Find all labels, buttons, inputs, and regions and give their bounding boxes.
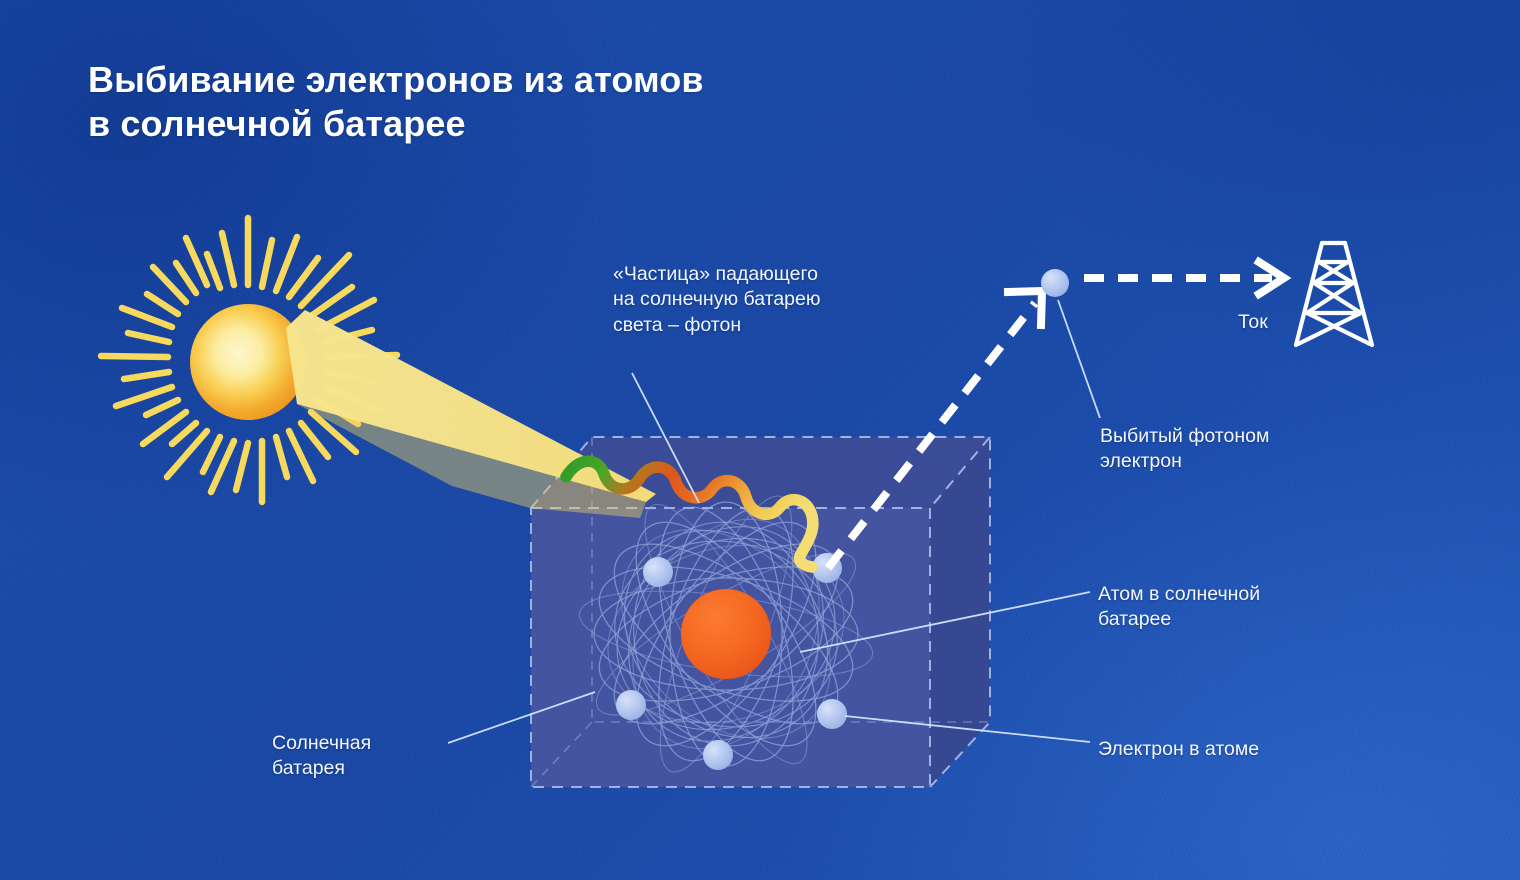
label-photon: «Частица» падающего на солнечную батарею…	[613, 262, 953, 338]
label-ejected-electron: Выбитый фотоном электрон	[1100, 424, 1390, 475]
electron-icon	[643, 557, 673, 587]
leader-line-ejected-electron	[1058, 300, 1100, 418]
nucleus-icon	[681, 589, 771, 679]
infographic-canvas: Выбивание электронов из атомов в солнечн…	[0, 0, 1520, 880]
electron-icon	[817, 699, 847, 729]
light-beam-icon	[286, 310, 656, 518]
page-title: Выбивание электронов из атомов в солнечн…	[88, 58, 988, 146]
electron-icon	[703, 740, 733, 770]
label-current: Ток	[1238, 310, 1328, 335]
current-arrow-icon	[1084, 262, 1284, 294]
ejected-electron-icon	[1041, 269, 1069, 297]
label-electron-in-atom: Электрон в атоме	[1098, 737, 1398, 762]
label-solar-panel: Солнечная батарея	[272, 731, 492, 782]
label-atom: Атом в солнечной батарее	[1098, 582, 1388, 633]
electron-icon	[616, 690, 646, 720]
